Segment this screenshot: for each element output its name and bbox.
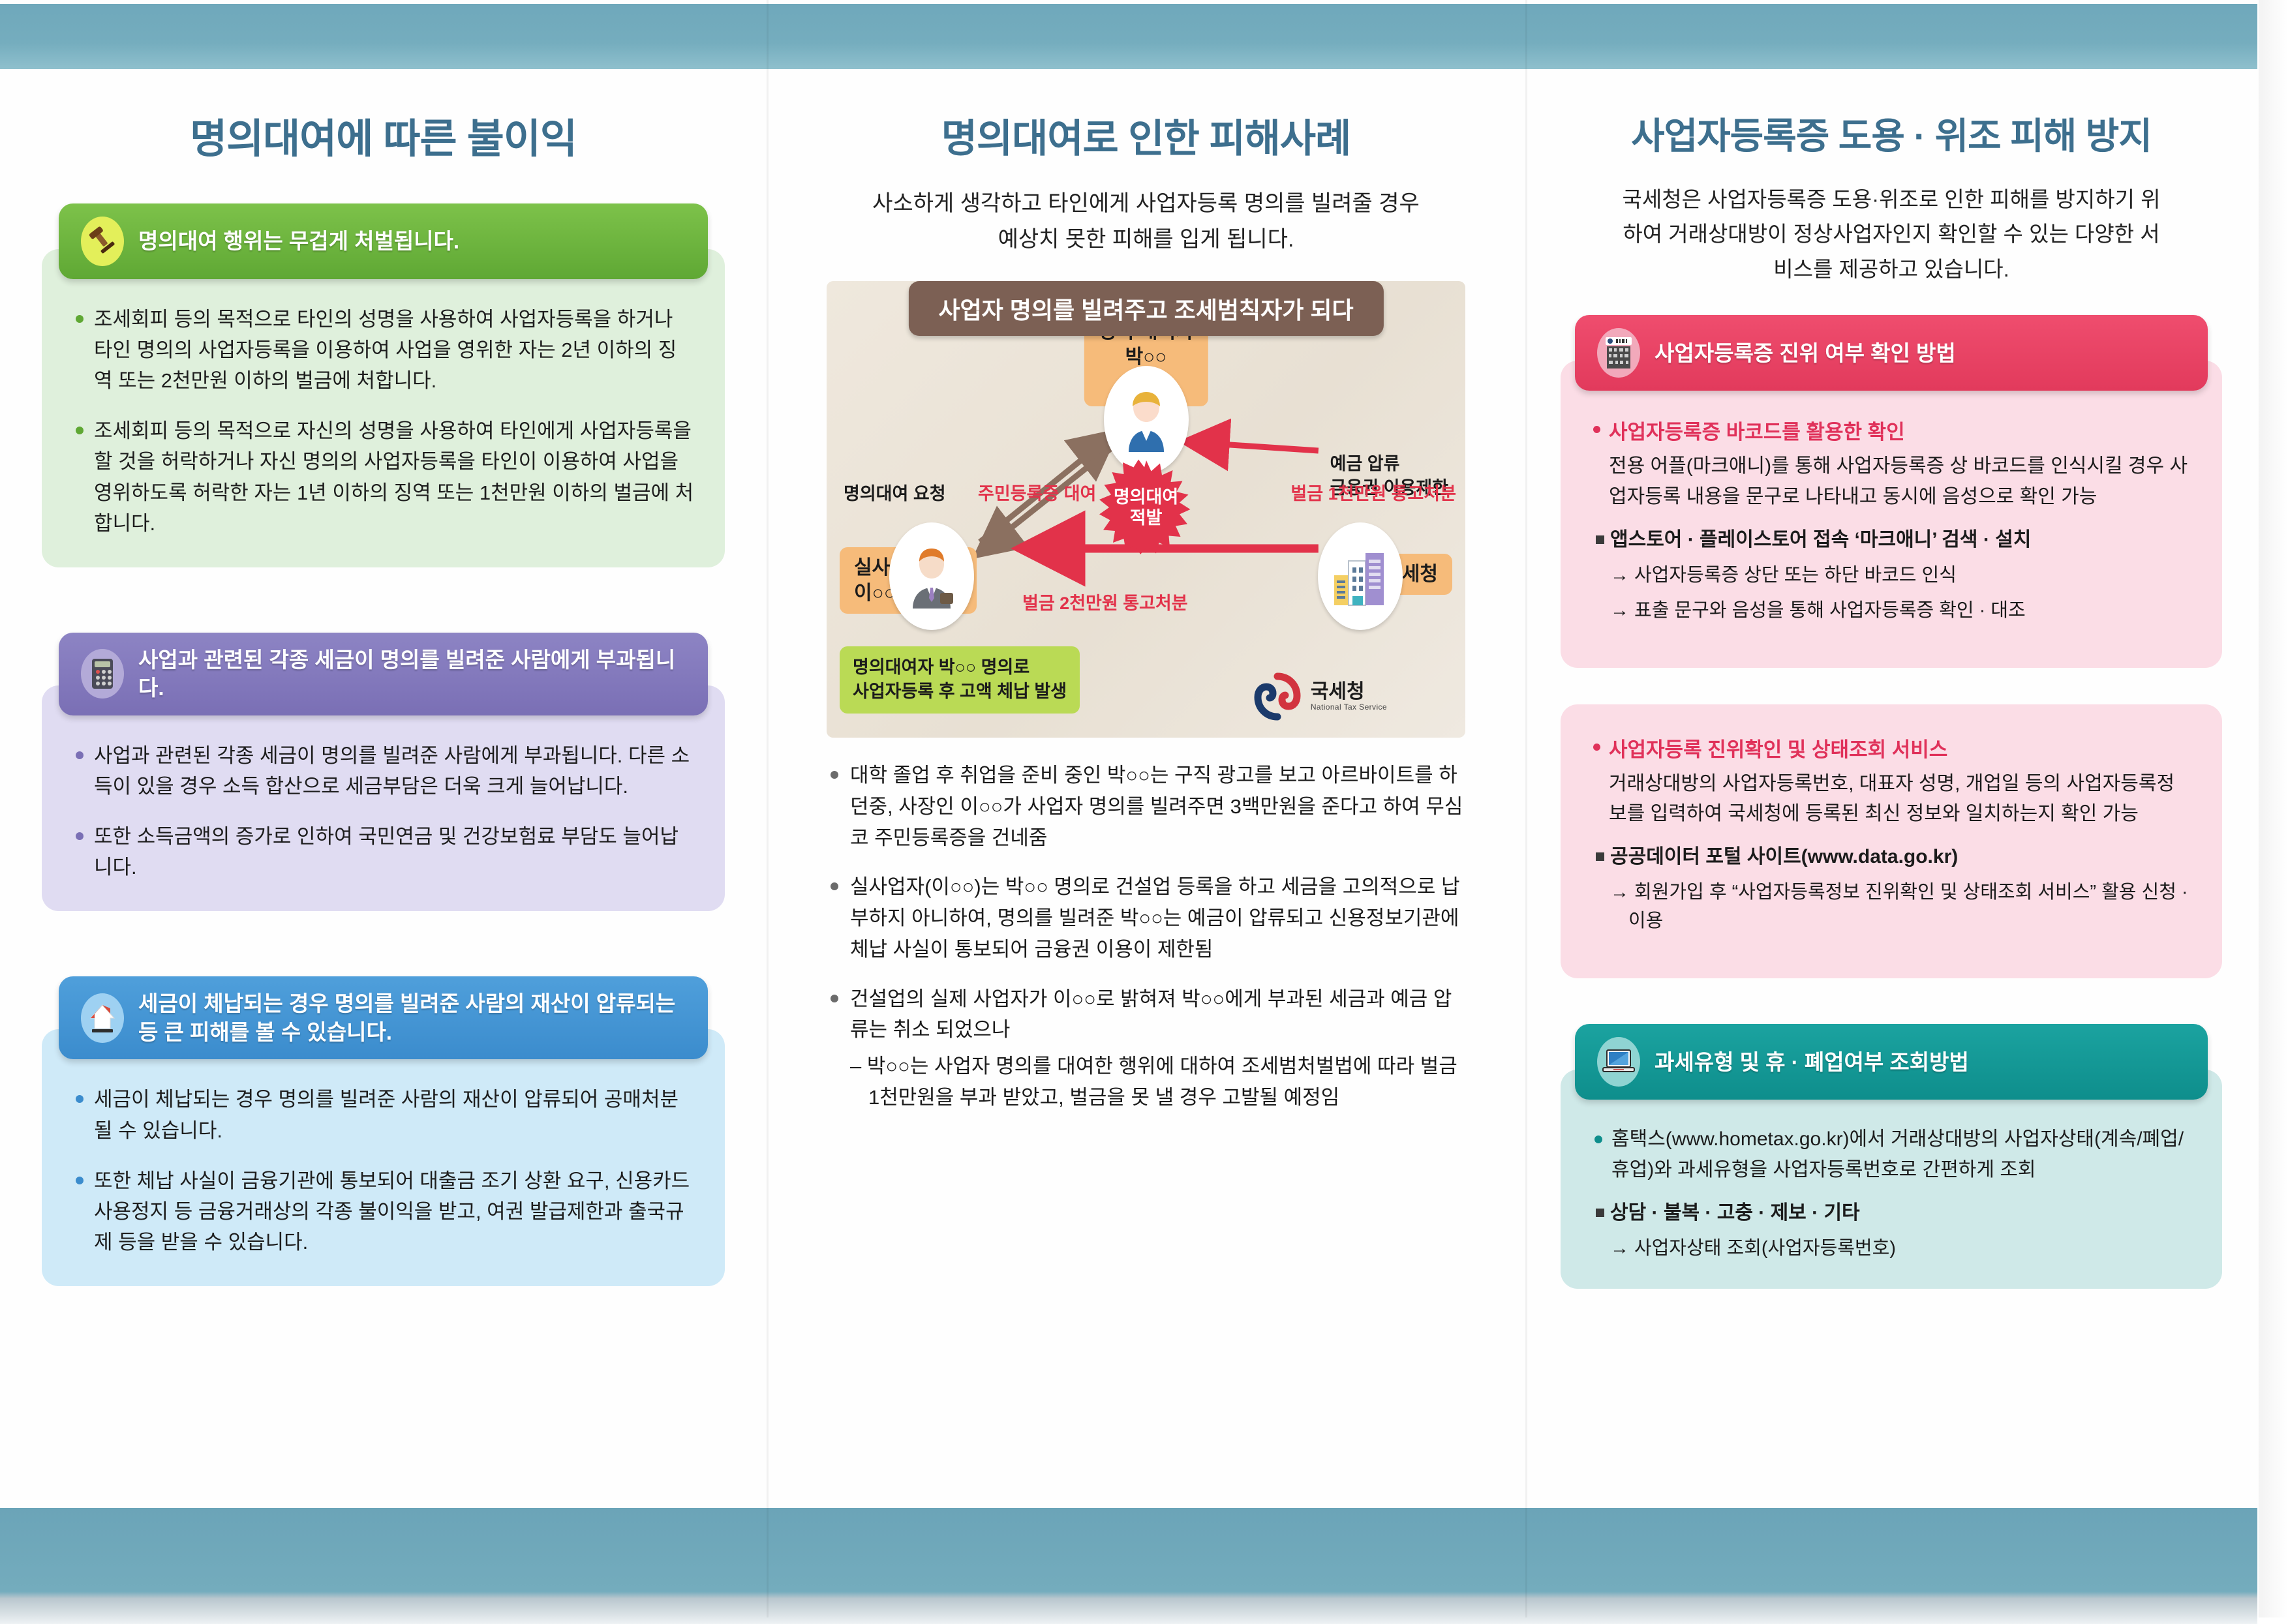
column-prevention: 사업자등록증 도용 · 위조 피해 방지 국세청은 사업자등록증 도용·위조로 … [1525, 78, 2257, 1500]
nts-logo-subtext: National Tax Service [1311, 702, 1387, 712]
card-penalty-header: 명의대여 행위는 무겁게 처벌됩니다. [59, 203, 708, 279]
card-authenticity-header: 사업자등록증 진위 여부 확인 방법 [1575, 315, 2208, 391]
list-item: 세금이 체납되는 경우 명의를 빌려준 사람의 재산이 압류되어 공매처분 될 … [72, 1084, 695, 1145]
detection-burst: 명의대여 적발 [1097, 459, 1195, 556]
column2-title: 명의대여로 인한 피해사례 [793, 78, 1499, 164]
block-barcode-body: 전용 어플(마크애니)를 통해 사업자등록증 상 바코드를 인식시킬 경우 사업… [1591, 451, 2192, 511]
burst-line2: 적발 [1114, 507, 1178, 528]
node-lender-avatar [1104, 366, 1189, 474]
block-status: 사업자등록 진위확인 및 상태조회 서비스 거래상대방의 사업자등록번호, 대표… [1591, 733, 2192, 936]
card-taxtype-heading: 과세유형 및 휴 · 폐업여부 조회방법 [1655, 1048, 1969, 1077]
card-penalty-body: 조세회피 등의 목적으로 타인의 성명을 사용하여 사업자등록을 하거나 타인 … [42, 249, 725, 567]
card-taxtype-lookup: 과세유형 및 휴 · 폐업여부 조회방법 홈택스(www.hometax.go.… [1561, 1024, 2222, 1288]
block-status-body: 거래상대방의 사업자등록번호, 대표자 성명, 개업일 등의 사업자등록정보를 … [1591, 769, 2192, 829]
bottom-color-band [0, 1508, 2257, 1624]
top-color-band [0, 4, 2257, 69]
node-nts-building [1318, 522, 1403, 630]
nts-logo-text: 국세청 [1311, 682, 1387, 702]
calculator-icon [81, 649, 124, 699]
card-seizure: 세금이 체납되는 경우 명의를 빌려준 사람의 재산이 압류되는 등 큰 피해를… [42, 976, 725, 1286]
diagram-canvas: 명의 대여자 박○○ 실사업자 이○○ [827, 281, 1465, 738]
list-item: 또한 소득금액의 증가로 인하여 국민연금 및 건강보험료 부담도 늘어납니다. [72, 821, 695, 882]
barcode-icon [1597, 328, 1640, 378]
case-text: 대학 졸업 후 취업을 준비 중인 박○○는 구직 광고를 보고 아르바이트를 … [850, 764, 1463, 849]
burst-line1: 명의대여 [1114, 487, 1178, 507]
card-status-inquiry: 사업자등록 진위확인 및 상태조회 서비스 거래상대방의 사업자등록번호, 대표… [1561, 704, 2222, 979]
card-seizure-body: 세금이 체납되는 경우 명의를 빌려준 사람의 재산이 압류되어 공매처분 될 … [42, 1029, 725, 1286]
block-taxtype-square: 상담 · 불복 · 고충 · 제보 · 기타 [1591, 1198, 2192, 1227]
card-taxtype-header: 과세유형 및 휴 · 폐업여부 조회방법 [1575, 1024, 2208, 1100]
column2-intro: 사소하게 생각하고 타인에게 사업자등록 명의를 빌려줄 경우 예상치 못한 피… [862, 186, 1430, 258]
column-disadvantages: 명의대여에 따른 불이익 명의대여 행위는 무겁게 처벌됩 [0, 78, 767, 1500]
list-item: 대학 졸업 후 취업을 준비 중인 박○○는 구직 광고를 보고 아르바이트를 … [827, 760, 1465, 853]
block-taxtype-arrow-1: → 사업자상태 조회(사업자등록번호) [1591, 1234, 2192, 1263]
block-barcode-arrow-1: → 사업자등록증 상단 또는 하단 바코드 인식 [1591, 561, 2192, 590]
list-item: 실사업자(이○○)는 박○○ 명의로 건설업 등록을 하고 세금을 고의적으로 … [827, 871, 1465, 965]
card-authenticity-body: 사업자등록증 바코드를 활용한 확인 전용 어플(마크애니)를 통해 사업자등록… [1561, 361, 2222, 668]
card-taxes-heading: 사업과 관련된 각종 세금이 명의를 빌려준 사람에게 부과됩니다. [138, 646, 686, 702]
card-taxes: 사업과 관련된 각종 세금이 명의를 빌려준 사람에게 부과됩니다. 사업과 관… [42, 633, 725, 912]
arrow-label-request: 명의대여 요청 [844, 482, 946, 505]
block-taxtype-body: 홈택스(www.hometax.go.kr)에서 거래상대방의 사업자상태(계속… [1591, 1124, 2192, 1184]
block-barcode: 사업자등록증 바코드를 활용한 확인 전용 어플(마크애니)를 통해 사업자등록… [1591, 415, 2192, 625]
block-barcode-arrow-2: → 표출 문구와 음성을 통해 사업자등록증 확인 · 대조 [1591, 596, 2192, 625]
case-list: 대학 졸업 후 취업을 준비 중인 박○○는 구직 광고를 보고 아르바이트를 … [827, 760, 1465, 1113]
list-item: 또한 체납 사실이 금융기관에 통보되어 대출금 조기 상환 요구, 신용카드 … [72, 1165, 695, 1257]
block-barcode-square: 앱스토어 · 플레이스토어 접속 ‘마크애니’ 검색 · 설치 [1591, 525, 2192, 554]
case-text: 실사업자(이○○)는 박○○ 명의로 건설업 등록을 하고 세금을 고의적으로 … [850, 875, 1459, 960]
column-damage-cases: 명의대여로 인한 피해사례 사소하게 생각하고 타인에게 사업자등록 명의를 빌… [767, 78, 1525, 1500]
card-penalty: 명의대여 행위는 무겁게 처벌됩니다. 조세회피 등의 목적으로 타인의 성명을… [42, 203, 725, 567]
card-authenticity-heading: 사업자등록증 진위 여부 확인 방법 [1655, 339, 1956, 368]
list-item: 사업과 관련된 각종 세금이 명의를 빌려준 사람에게 부과됩니다. 다른 소득… [72, 740, 695, 802]
columns-container: 명의대여에 따른 불이익 명의대여 행위는 무겁게 처벌됩 [0, 78, 2257, 1500]
arrow-label-deposit-line1: 예금 압류 [1330, 452, 1448, 475]
note-delinquency-line1: 명의대여자 박○○ 명의로 [853, 655, 1067, 680]
card-taxes-header: 사업과 관련된 각종 세금이 명의를 빌려준 사람에게 부과됩니다. [59, 633, 708, 715]
arrow-label-fine-10m: 벌금 1천만원 통고처분 [1290, 482, 1456, 505]
list-item: 조세회피 등의 목적으로 타인의 성명을 사용하여 사업자등록을 하거나 타인 … [72, 304, 695, 396]
namelending-diagram: 사업자 명의를 빌려주고 조세범칙자가 되다 [827, 281, 1465, 738]
list-item: 건설업의 실제 사업자가 이○○로 밝혀져 박○○에게 부과된 세금과 예금 압… [827, 984, 1465, 1113]
brochure-page: 명의대여에 따른 불이익 명의대여 행위는 무겁게 처벌됩 [0, 0, 2288, 1617]
note-delinquency-line2: 사업자등록 후 고액 체납 발생 [853, 680, 1067, 704]
block-barcode-title: 사업자등록증 바코드를 활용한 확인 [1591, 415, 2192, 445]
arrow-label-idcard: 주민등록증 대여 [978, 482, 1096, 505]
card-seizure-header: 세금이 체납되는 경우 명의를 빌려준 사람의 재산이 압류되는 등 큰 피해를… [59, 976, 708, 1059]
block-status-square: 공공데이터 포털 사이트(www.data.go.kr) [1591, 842, 2192, 871]
column3-intro: 국세청은 사업자등록증 도용·위조로 인한 피해를 방지하기 위하여 거래상대방… [1621, 182, 2162, 286]
gavel-icon [81, 217, 124, 266]
column3-title: 사업자등록증 도용 · 위조 피해 방지 [1551, 78, 2231, 160]
card-taxtype-body: 홈택스(www.hometax.go.kr)에서 거래상대방의 사업자상태(계속… [1561, 1070, 2222, 1288]
card-status-inquiry-body: 사업자등록 진위확인 및 상태조회 서비스 거래상대방의 사업자등록번호, 대표… [1561, 704, 2222, 979]
house-icon [81, 993, 124, 1043]
diagram-title: 사업자 명의를 빌려주고 조세범칙자가 되다 [908, 281, 1383, 336]
card-seizure-heading: 세금이 체납되는 경우 명의를 빌려준 사람의 재산이 압류되는 등 큰 피해를… [138, 989, 686, 1046]
note-delinquency: 명의대여자 박○○ 명의로 사업자등록 후 고액 체납 발생 [840, 646, 1080, 714]
card-penalty-heading: 명의대여 행위는 무겁게 처벌됩니다. [138, 227, 459, 256]
block-status-arrow-1: → 회원가입 후 “사업자등록정보 진위확인 및 상태조회 서비스” 활용 신청… [1591, 878, 2192, 935]
card-taxes-body: 사업과 관련된 각종 세금이 명의를 빌려준 사람에게 부과됩니다. 다른 소득… [42, 685, 725, 911]
card-authenticity: 사업자등록증 진위 여부 확인 방법 사업자등록증 바코드를 활용한 확인 전용… [1561, 315, 2222, 668]
case-text: 건설업의 실제 사업자가 이○○로 밝혀져 박○○에게 부과된 세금과 예금 압… [850, 987, 1452, 1042]
column1-title: 명의대여에 따른 불이익 [26, 78, 740, 164]
laptop-icon [1597, 1037, 1640, 1087]
case-subtext: – 박○○는 사업자 명의를 대여한 행위에 대하여 조세범처벌법에 따라 벌금… [850, 1051, 1465, 1113]
node-realowner-avatar [889, 522, 974, 630]
block-status-title: 사업자등록 진위확인 및 상태조회 서비스 [1591, 733, 2192, 762]
list-item: 조세회피 등의 목적으로 자신의 성명을 사용하여 타인에게 사업자등록을 할 … [72, 415, 695, 538]
arrow-label-fine-20m: 벌금 2천만원 통고처분 [1022, 592, 1188, 615]
nts-logo: 국세청 National Tax Service [1253, 672, 1387, 721]
scan-edge [2259, 0, 2288, 1617]
